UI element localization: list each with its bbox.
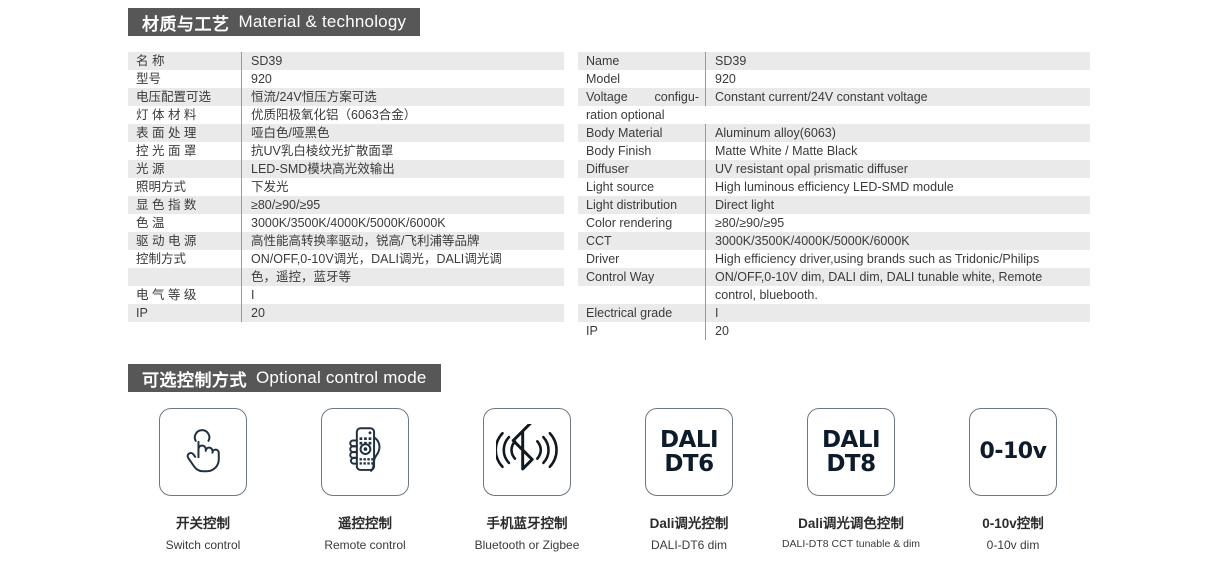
section-header-control-cn: 可选控制方式 — [142, 366, 247, 391]
control-mode-caption-cn: 开关控制 — [176, 512, 230, 532]
spec-label: 控 光 面 罩 — [128, 142, 241, 160]
spec-value: 抗UV乳白棱纹光扩散面罩 — [241, 142, 564, 160]
control-mode-caption-cn: 0-10v控制 — [982, 512, 1044, 532]
spec-label: Driver — [578, 250, 705, 268]
spec-value: control, bluebooth. — [705, 286, 1090, 304]
table-row: 色，遥控，蓝牙等 — [128, 268, 564, 286]
table-row: 光 源LED-SMD模块高光效输出 — [128, 160, 564, 178]
spec-label: Body Material — [578, 124, 705, 142]
spec-value: ON/OFF,0-10V dim, DALI dim, DALI tunable… — [705, 268, 1090, 286]
control-mode-caption-cn: 手机蓝牙控制 — [487, 512, 568, 532]
spec-value: 20 — [241, 304, 564, 322]
spec-label: IP — [128, 304, 241, 322]
table-row: 电 气 等 级I — [128, 286, 564, 304]
table-row: Body MaterialAluminum alloy(6063) — [578, 124, 1090, 142]
control-mode-caption-cn: Dali调光调色控制 — [798, 512, 904, 532]
spec-value: SD39 — [705, 52, 1090, 70]
badge-line-2: DT8 — [822, 452, 880, 476]
control-mode-caption-en: Remote control — [324, 538, 405, 552]
spec-value: LED-SMD模块高光效输出 — [241, 160, 564, 178]
table-row: Model920 — [578, 70, 1090, 88]
section-header-material-en: Material & technology — [239, 12, 407, 32]
spec-label: 型号 — [128, 70, 241, 88]
spec-value: 优质阳极氧化铝（6063合金） — [241, 106, 564, 124]
table-row: Voltage configu-Constant current/24V con… — [578, 88, 1090, 106]
spec-label: 名 称 — [128, 52, 241, 70]
spec-label: Voltage configu- — [578, 88, 705, 106]
control-mode-caption-cn: 遥控控制 — [338, 512, 392, 532]
bluetooth-wave-icon[interactable] — [483, 408, 571, 496]
badge-label: DALIDT6 — [660, 428, 718, 476]
control-mode-item[interactable]: DALIDT8Dali调光调色控制DALI-DT8 CCT tunable & … — [776, 408, 926, 552]
spec-label: 显 色 指 数 — [128, 196, 241, 214]
spec-label: Model — [578, 70, 705, 88]
hand-remote-icon[interactable] — [321, 408, 409, 496]
section-header-control-en: Optional control mode — [256, 368, 427, 388]
control-mode-item[interactable]: 开关控制Switch control — [128, 408, 278, 552]
spec-value: ON/OFF,0-10V调光，DALI调光，DALI调光调 — [241, 250, 564, 268]
spec-table-english: NameSD39Model920Voltage configu-Constant… — [578, 52, 1090, 340]
spec-value — [705, 106, 1090, 124]
spec-value: 3000K/3500K/4000K/5000K/6000K — [241, 214, 564, 232]
spec-value: 下发光 — [241, 178, 564, 196]
spec-label: 驱 动 电 源 — [128, 232, 241, 250]
table-row: IP20 — [128, 304, 564, 322]
table-row: Electrical gradeI — [578, 304, 1090, 322]
table-row: 控制方式ON/OFF,0-10V调光，DALI调光，DALI调光调 — [128, 250, 564, 268]
dali-dt8-icon[interactable]: DALIDT8 — [807, 408, 895, 496]
spec-label: Name — [578, 52, 705, 70]
table-row: control, bluebooth. — [578, 286, 1090, 304]
table-row: 照明方式下发光 — [128, 178, 564, 196]
spec-value: 920 — [705, 70, 1090, 88]
table-row: CCT3000K/3500K/4000K/5000K/6000K — [578, 232, 1090, 250]
badge-line-1: DALI — [660, 428, 718, 452]
table-row: 控 光 面 罩抗UV乳白棱纹光扩散面罩 — [128, 142, 564, 160]
bluetooth-wave-icon — [496, 424, 558, 481]
zero-to-ten-volt-icon[interactable]: 0-10v — [969, 408, 1057, 496]
spec-label: Control Way — [578, 268, 705, 286]
table-row: DriverHigh efficiency driver,using brand… — [578, 250, 1090, 268]
badge-line-2: DT6 — [660, 452, 718, 476]
control-mode-item[interactable]: DALIDT6Dali调光控制DALI-DT6 dim — [614, 408, 764, 552]
control-mode-caption-en: 0-10v dim — [987, 538, 1040, 552]
spec-label: 色 温 — [128, 214, 241, 232]
table-row: Control WayON/OFF,0-10V dim, DALI dim, D… — [578, 268, 1090, 286]
spec-label: 光 源 — [128, 160, 241, 178]
table-row: Color rendering≥80/≥90/≥95 — [578, 214, 1090, 232]
dali-dt6-icon[interactable]: DALIDT6 — [645, 408, 733, 496]
section-header-material: 材质与工艺 Material & technology — [128, 8, 420, 36]
spec-value: 恒流/24V恒压方案可选 — [241, 88, 564, 106]
table-row: DiffuserUV resistant opal prismatic diff… — [578, 160, 1090, 178]
spec-label: 表 面 处 理 — [128, 124, 241, 142]
spec-value: 高性能高转换率驱动，锐高/飞利浦等品牌 — [241, 232, 564, 250]
spec-value: High luminous efficiency LED-SMD module — [705, 178, 1090, 196]
table-row: 色 温3000K/3500K/4000K/5000K/6000K — [128, 214, 564, 232]
section-header-control-mode: 可选控制方式 Optional control mode — [128, 364, 441, 392]
control-mode-caption-en: DALI-DT6 dim — [651, 538, 727, 552]
control-mode-caption-en: Bluetooth or Zigbee — [475, 538, 580, 552]
control-mode-caption-cn: Dali调光控制 — [650, 512, 729, 532]
spec-label: Electrical grade — [578, 304, 705, 322]
table-row: Light distributionDirect light — [578, 196, 1090, 214]
table-row: ration optional — [578, 106, 1090, 124]
spec-value: UV resistant opal prismatic diffuser — [705, 160, 1090, 178]
spec-value: Constant current/24V constant voltage — [705, 88, 1090, 106]
table-row: Body FinishMatte White / Matte Black — [578, 142, 1090, 160]
spec-label: IP — [578, 322, 705, 340]
control-mode-caption-en: Switch control — [166, 538, 241, 552]
spec-label: CCT — [578, 232, 705, 250]
badge-label: DALIDT8 — [822, 428, 880, 476]
spec-label: Light source — [578, 178, 705, 196]
spec-value: 3000K/3500K/4000K/5000K/6000K — [705, 232, 1090, 250]
hand-remote-icon — [336, 421, 394, 484]
table-row: 灯 体 材 料优质阳极氧化铝（6063合金） — [128, 106, 564, 124]
spec-value: 20 — [705, 322, 1090, 340]
table-row: 驱 动 电 源高性能高转换率驱动，锐高/飞利浦等品牌 — [128, 232, 564, 250]
spec-label: ration optional — [578, 106, 705, 124]
spec-value: ≥80/≥90/≥95 — [705, 214, 1090, 232]
control-mode-item[interactable]: 手机蓝牙控制Bluetooth or Zigbee — [452, 408, 602, 552]
table-row: IP20 — [578, 322, 1090, 340]
table-row: 型号920 — [128, 70, 564, 88]
spec-label: Light distribution — [578, 196, 705, 214]
spec-label — [578, 286, 705, 304]
control-mode-caption-en: DALI-DT8 CCT tunable & dim — [782, 538, 920, 550]
table-row: 显 色 指 数≥80/≥90/≥95 — [128, 196, 564, 214]
spec-label: Body Finish — [578, 142, 705, 160]
control-mode-item[interactable]: 0-10v0-10v控制0-10v dim — [938, 408, 1088, 552]
spec-label: 电压配置可选 — [128, 88, 241, 106]
spec-value: Direct light — [705, 196, 1090, 214]
table-row: 名 称SD39 — [128, 52, 564, 70]
spec-label: Color rendering — [578, 214, 705, 232]
table-row: Light sourceHigh luminous efficiency LED… — [578, 178, 1090, 196]
touch-hand-icon[interactable] — [159, 408, 247, 496]
spec-label: 电 气 等 级 — [128, 286, 241, 304]
spec-value: SD39 — [241, 52, 564, 70]
touch-hand-icon — [174, 421, 232, 484]
control-mode-item[interactable]: 遥控控制Remote control — [290, 408, 440, 552]
spec-value: I — [705, 304, 1090, 322]
table-row: 表 面 处 理哑白色/哑黑色 — [128, 124, 564, 142]
table-row: 电压配置可选恒流/24V恒压方案可选 — [128, 88, 564, 106]
spec-label: 灯 体 材 料 — [128, 106, 241, 124]
spec-label: 照明方式 — [128, 178, 241, 196]
spec-table-chinese: 名 称SD39型号920电压配置可选恒流/24V恒压方案可选灯 体 材 料优质阳… — [128, 52, 564, 322]
spec-value: High efficiency driver,using brands such… — [705, 250, 1090, 268]
badge-line-1: DALI — [822, 428, 880, 452]
spec-label: 控制方式 — [128, 250, 241, 268]
spec-value: Aluminum alloy(6063) — [705, 124, 1090, 142]
section-header-material-cn: 材质与工艺 — [142, 10, 230, 35]
spec-value: 哑白色/哑黑色 — [241, 124, 564, 142]
spec-label — [128, 268, 241, 286]
spec-value: 920 — [241, 70, 564, 88]
spec-label: Diffuser — [578, 160, 705, 178]
spec-value: I — [241, 286, 564, 304]
control-mode-list: 开关控制Switch control 遥控控制Remote control — [128, 408, 1088, 552]
badge-label: 0-10v — [980, 440, 1047, 463]
spec-value: Matte White / Matte Black — [705, 142, 1090, 160]
spec-value: 色，遥控，蓝牙等 — [241, 268, 564, 286]
spec-value: ≥80/≥90/≥95 — [241, 196, 564, 214]
table-row: NameSD39 — [578, 52, 1090, 70]
